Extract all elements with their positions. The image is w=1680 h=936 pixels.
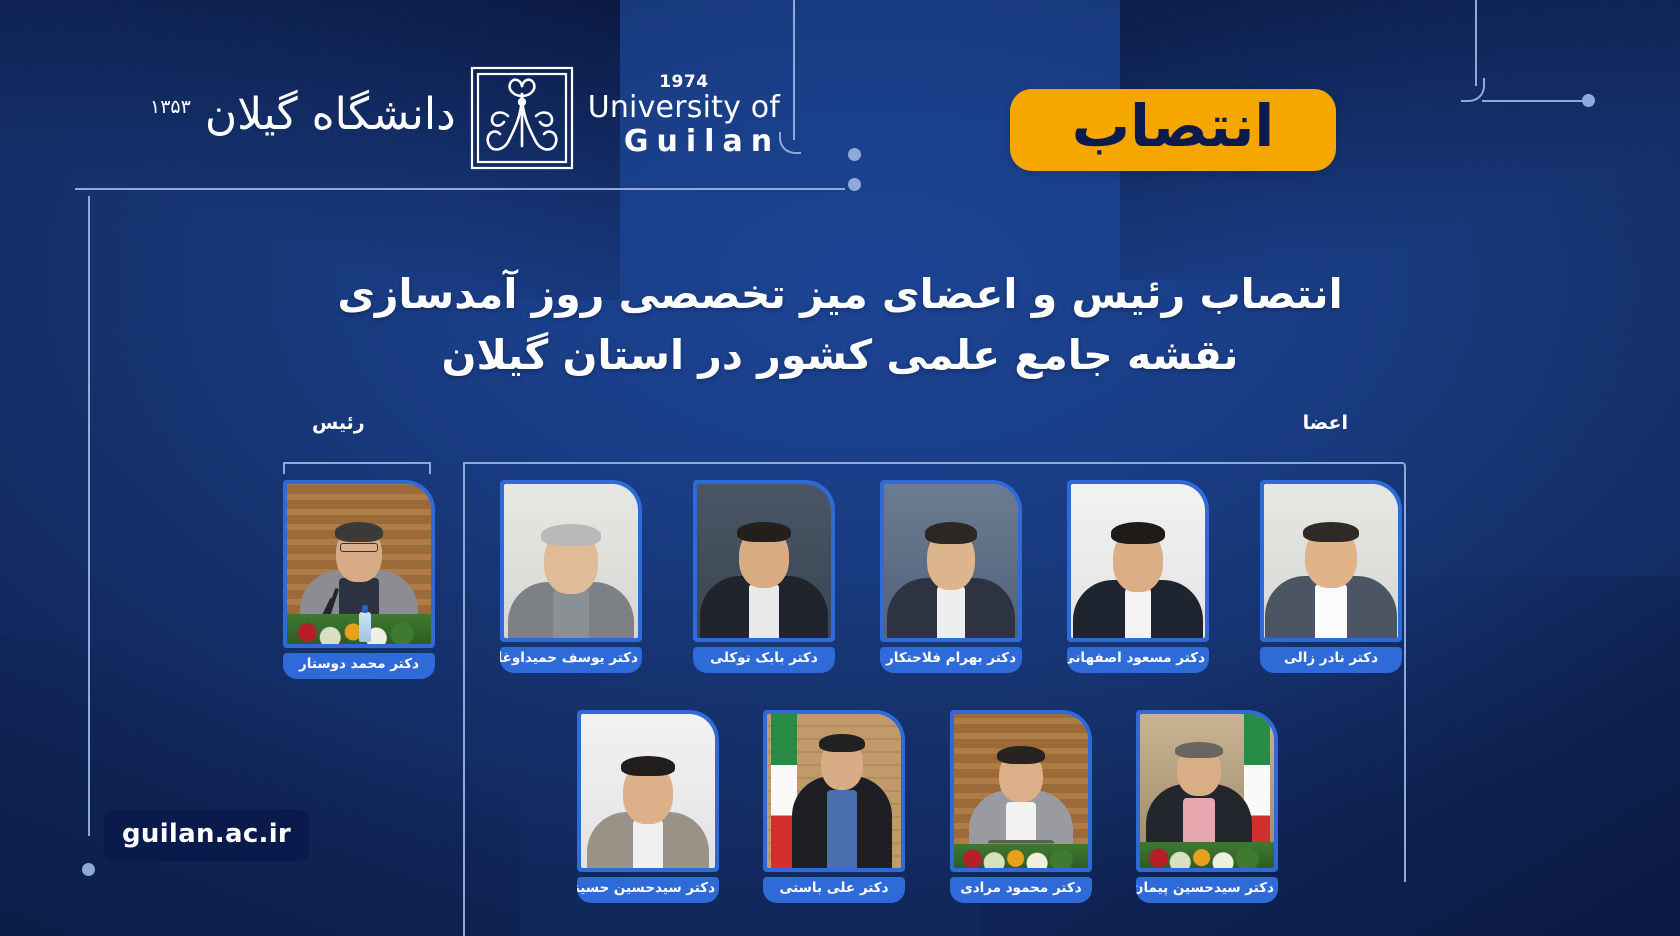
photo-frame xyxy=(500,480,642,642)
university-logo: دانشگاه گیلان ۱۳۵۳ 1974 xyxy=(148,64,780,172)
person-card-member-3[interactable]: دکتر بهرام فلاحتکار xyxy=(880,480,1022,673)
appointment-badge: انتصاب xyxy=(1010,89,1336,171)
appointment-badge-label: انتصاب xyxy=(1072,97,1275,163)
logo-name-fa: دانشگاه گیلان ۱۳۵۳ xyxy=(148,93,456,143)
corner-shade-bottom-left xyxy=(0,636,520,936)
person-name-member-7: دکتر علی باستی xyxy=(763,877,905,903)
person-name-member-9: دکتر سیدحسین پیمان xyxy=(1136,877,1278,903)
person-name-member-1: دکتر یوسف حمیداوغلی xyxy=(500,647,642,673)
chairman-bracket xyxy=(283,462,431,464)
person-photo-chairman xyxy=(287,484,431,644)
photo-frame xyxy=(950,710,1092,872)
logo-name-fa-text: دانشگاه گیلان xyxy=(205,89,456,140)
guilan-emblem-icon xyxy=(468,64,576,172)
photo-frame xyxy=(880,480,1022,642)
page-title-line1: انتصاب رئیس و اعضای میز تخصصی روز آمدساز… xyxy=(200,264,1480,325)
person-photo-member-9 xyxy=(1140,714,1274,868)
person-photo-member-6 xyxy=(581,714,715,868)
person-photo-member-1 xyxy=(504,484,638,638)
header-rule-horizontal xyxy=(75,188,845,190)
decor-dot-b xyxy=(848,178,861,191)
person-name-member-3: دکتر بهرام فلاحتکار xyxy=(880,647,1022,673)
person-name-chairman: دکتر محمد دوستار xyxy=(283,653,435,679)
header-right-rule-horizontal xyxy=(1482,100,1582,102)
photo-frame xyxy=(693,480,835,642)
person-card-member-7[interactable]: دکتر علی باستی xyxy=(763,710,905,903)
person-card-member-2[interactable]: دکتر بابک توکلی xyxy=(693,480,835,673)
photo-frame xyxy=(283,480,435,648)
decor-dot-footer xyxy=(82,863,95,876)
members-bracket-left-rail xyxy=(463,462,465,936)
chairman-bracket-right-tick xyxy=(429,462,431,474)
person-card-chairman[interactable]: دکتر محمد دوستار xyxy=(283,480,435,679)
person-photo-member-2 xyxy=(697,484,831,638)
poster-canvas: دانشگاه گیلان ۱۳۵۳ 1974 xyxy=(0,0,1680,936)
person-name-member-4: دکتر مسعود اصفهانی xyxy=(1067,647,1209,673)
decor-dot-right xyxy=(1582,94,1595,107)
page-title: انتصاب رئیس و اعضای میز تخصصی روز آمدساز… xyxy=(0,264,1680,385)
header-right-rule-elbow xyxy=(1461,78,1485,102)
logo-name-en: 1974 University of Guilan xyxy=(588,73,780,162)
photo-frame xyxy=(763,710,905,872)
header-rule-elbow xyxy=(779,132,801,154)
decor-dot-a xyxy=(848,148,861,161)
person-photo-member-5 xyxy=(1264,484,1398,638)
person-photo-member-8 xyxy=(954,714,1088,868)
logo-name-en-line1: University of xyxy=(588,91,780,125)
person-card-member-9[interactable]: دکتر سیدحسین پیمان xyxy=(1136,710,1278,903)
photo-frame xyxy=(1136,710,1278,872)
person-card-member-8[interactable]: دکتر محمود مرادی xyxy=(950,710,1092,903)
section-label-members: اعضا xyxy=(1303,412,1348,434)
logo-name-en-line2: Guilan xyxy=(588,125,780,159)
chairman-bracket-left-tick xyxy=(283,462,285,474)
photo-frame xyxy=(1260,480,1402,642)
person-photo-member-3 xyxy=(884,484,1018,638)
person-photo-member-4 xyxy=(1071,484,1205,638)
person-card-member-5[interactable]: دکتر نادر زالی xyxy=(1260,480,1402,673)
person-card-member-1[interactable]: دکتر یوسف حمیداوغلی xyxy=(500,480,642,673)
photo-frame xyxy=(1067,480,1209,642)
person-name-member-8: دکتر محمود مرادی xyxy=(950,877,1092,903)
website-url-badge[interactable]: guilan.ac.ir xyxy=(104,810,309,861)
person-name-member-6: دکتر سیدحسین حسینی‌مقدم xyxy=(577,877,719,903)
page-title-line2: نقشه جامع علمی کشور در استان گیلان xyxy=(200,325,1480,386)
photo-frame xyxy=(577,710,719,872)
person-card-member-6[interactable]: دکتر سیدحسین حسینی‌مقدم xyxy=(577,710,719,903)
person-card-member-4[interactable]: دکتر مسعود اصفهانی xyxy=(1067,480,1209,673)
header-rule-vertical xyxy=(793,0,795,140)
header-right-rule-vertical xyxy=(1475,0,1477,86)
person-name-member-5: دکتر نادر زالی xyxy=(1260,647,1402,673)
logo-year-fa: ۱۳۵۳ xyxy=(150,96,191,118)
person-photo-member-7 xyxy=(767,714,901,868)
section-label-chairman: رئیس xyxy=(312,412,365,434)
person-name-member-2: دکتر بابک توکلی xyxy=(693,647,835,673)
